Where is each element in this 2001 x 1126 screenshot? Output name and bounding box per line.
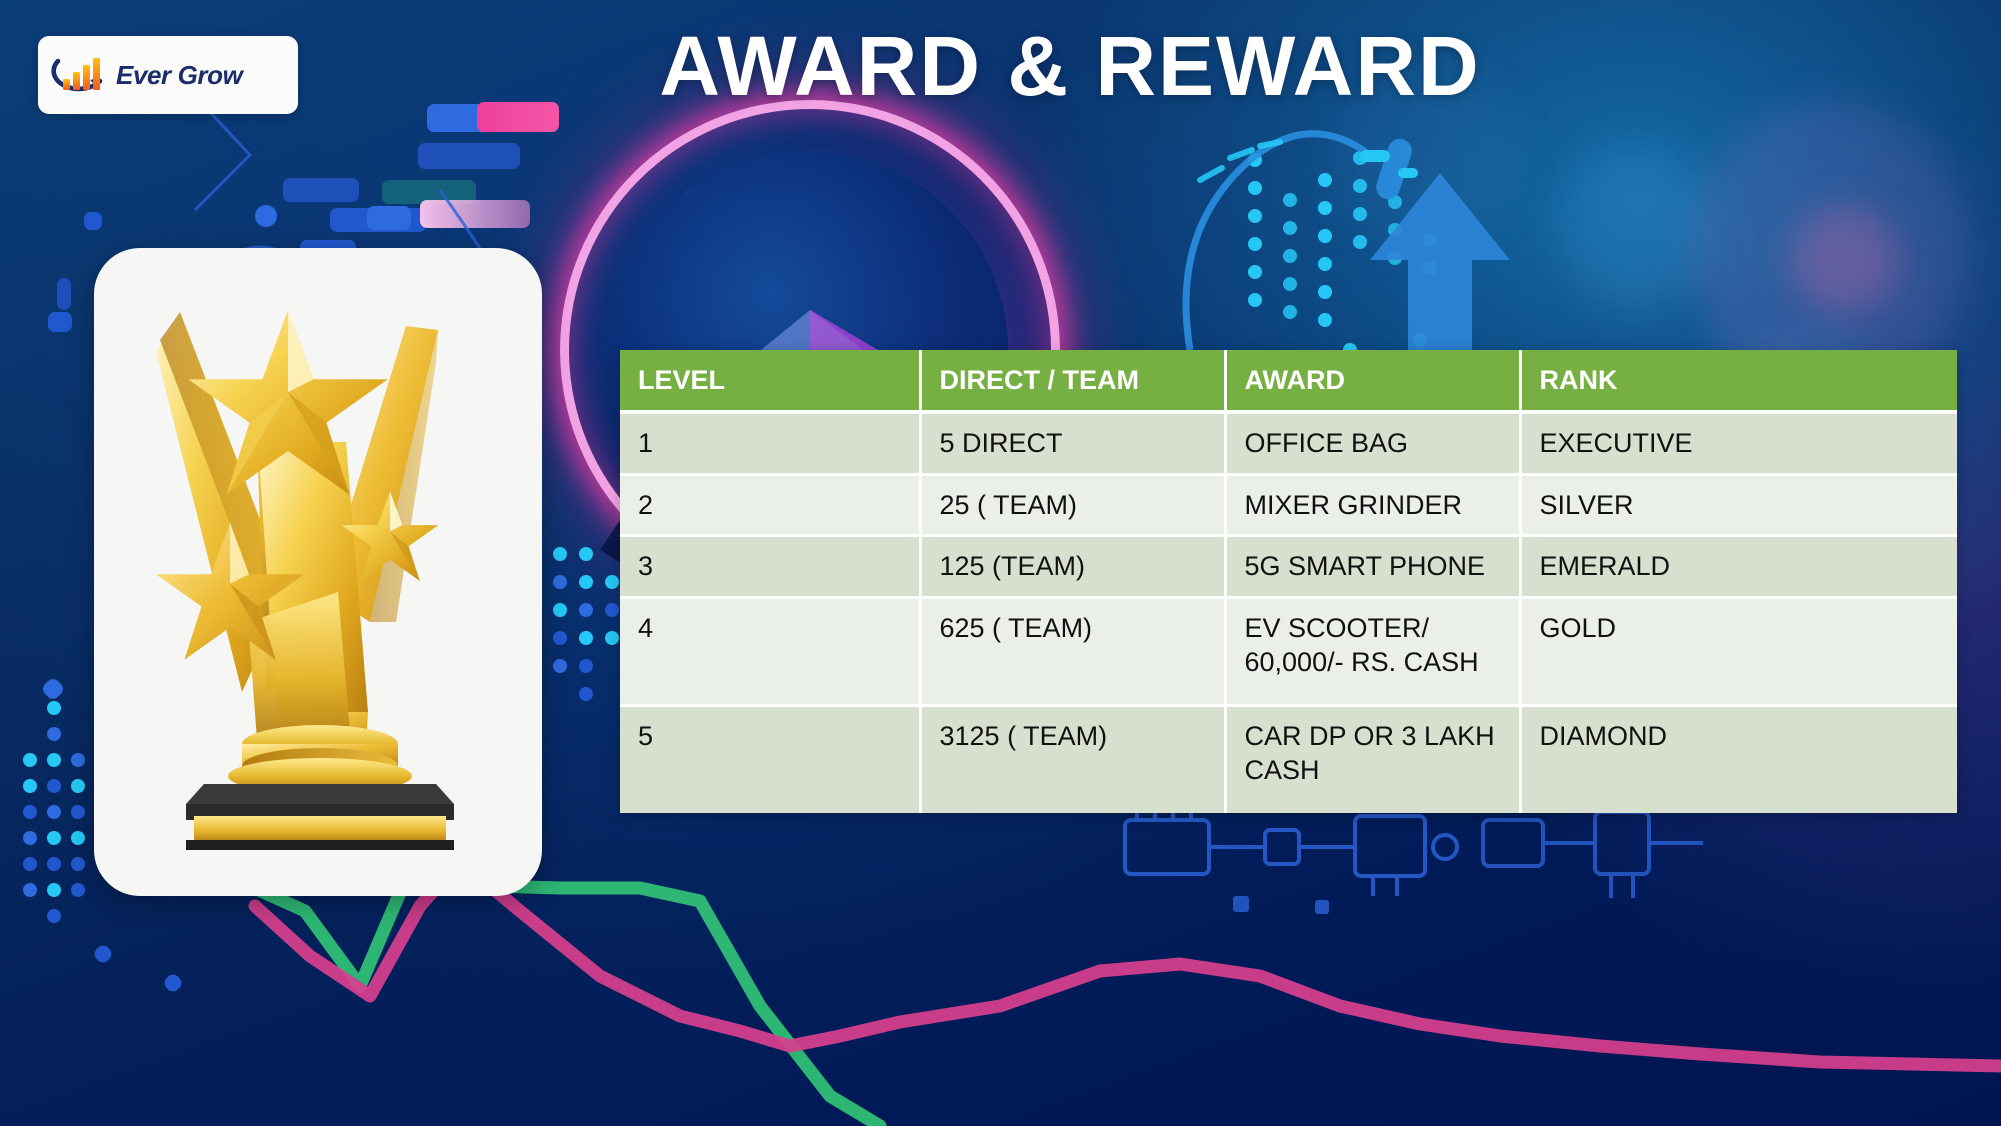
cell-award: OFFICE BAG	[1225, 412, 1520, 474]
cell-award: 5G SMART PHONE	[1225, 536, 1520, 598]
cell-direct-team: 625 ( TEAM)	[920, 597, 1225, 705]
award-reward-table: LEVEL DIRECT / TEAM AWARD RANK 1 5 DIREC…	[620, 350, 1957, 813]
slide-canvas: Ever Grow AWARD & REWARD	[0, 0, 2001, 1126]
table-row: 5 3125 ( TEAM) CAR DP OR 3 LAKHCASH DIAM…	[620, 705, 1957, 813]
cell-direct-team: 25 ( TEAM)	[920, 474, 1225, 536]
cell-level: 1	[620, 412, 920, 474]
cell-rank: DIAMOND	[1520, 705, 1957, 813]
table-row: 4 625 ( TEAM) EV SCOOTER/60,000/- RS. CA…	[620, 597, 1957, 705]
cell-direct-team: 125 (TEAM)	[920, 536, 1225, 598]
cell-award: EV SCOOTER/60,000/- RS. CASH	[1225, 597, 1520, 705]
cell-rank: EMERALD	[1520, 536, 1957, 598]
decor-bar	[1398, 168, 1418, 178]
table-row: 1 5 DIRECT OFFICE BAG EXECUTIVE	[620, 412, 1957, 474]
bokeh-circle	[1560, 140, 1710, 310]
bokeh-circle	[1790, 205, 1900, 315]
table-row: 2 25 ( TEAM) MIXER GRINDER SILVER	[620, 474, 1957, 536]
trophy-image-card	[94, 248, 542, 896]
cell-rank: EXECUTIVE	[1520, 412, 1957, 474]
decor-bar	[1360, 150, 1390, 162]
column-header-rank[interactable]: RANK	[1520, 350, 1957, 412]
column-header-award[interactable]: AWARD	[1225, 350, 1520, 412]
bar-chart-growth-arrow-icon	[50, 51, 108, 99]
cell-direct-team: 5 DIRECT	[920, 412, 1225, 474]
cell-rank: GOLD	[1520, 597, 1957, 705]
page-title: AWARD & REWARD	[580, 22, 1560, 110]
cell-level: 3	[620, 536, 920, 598]
cell-direct-team: 3125 ( TEAM)	[920, 705, 1225, 813]
decor-curve	[1160, 120, 1480, 380]
gold-star-trophy-icon	[138, 292, 498, 852]
column-header-level[interactable]: LEVEL	[620, 350, 920, 412]
cell-rank: SILVER	[1520, 474, 1957, 536]
cell-level: 5	[620, 705, 920, 813]
table-header-row: LEVEL DIRECT / TEAM AWARD RANK	[620, 350, 1957, 412]
column-header-direct-team[interactable]: DIRECT / TEAM	[920, 350, 1225, 412]
cell-award: MIXER GRINDER	[1225, 474, 1520, 536]
cell-award: CAR DP OR 3 LAKHCASH	[1225, 705, 1520, 813]
brand-name: Ever Grow	[116, 60, 242, 91]
table-row: 3 125 (TEAM) 5G SMART PHONE EMERALD	[620, 536, 1957, 598]
cell-level: 4	[620, 597, 920, 705]
cell-level: 2	[620, 474, 920, 536]
brand-logo[interactable]: Ever Grow	[38, 36, 298, 114]
